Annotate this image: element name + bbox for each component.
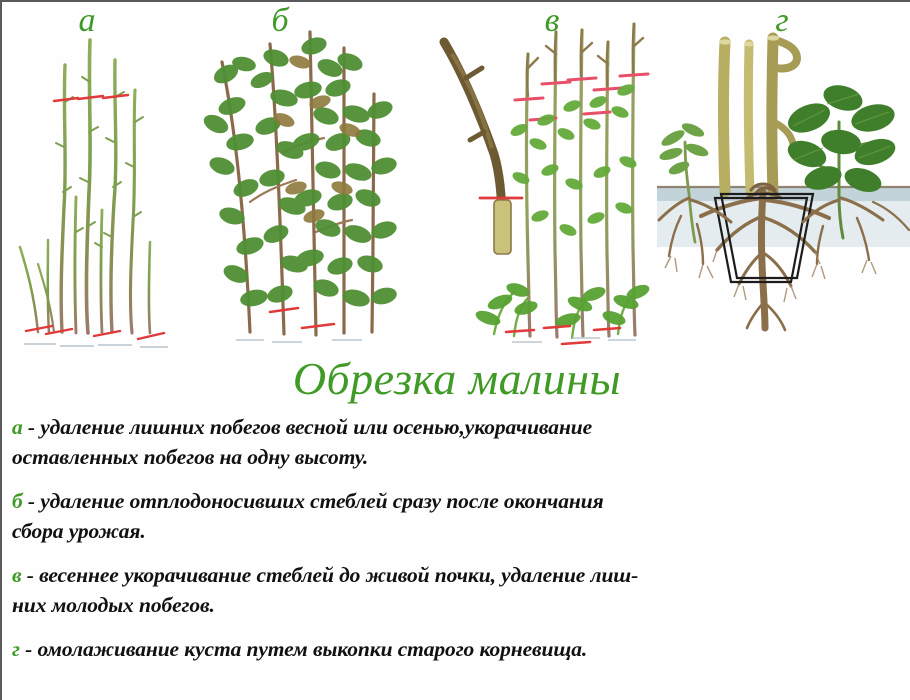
legend-item-a: а - удаление лишних побегов весной или о…: [12, 412, 892, 472]
panel-b-remove-spent-canes: б: [192, 2, 402, 352]
legend-key-a: а: [12, 415, 23, 439]
spring-heading-canes-illustration: [422, 2, 652, 352]
illustration-strip: а: [2, 2, 910, 352]
page-title: Обрезка малины: [2, 354, 910, 404]
legend-text-g: омолаживание куста путем выкопки старого…: [37, 637, 587, 661]
legend-text-a: удаление лишних побегов весной или осень…: [12, 415, 592, 469]
old-stumps: [719, 35, 797, 192]
legend-item-g: г - омолаживание куста путем выкопки ста…: [12, 634, 892, 664]
legend-text-v: весеннее укорачивание стеблей до живой п…: [12, 563, 638, 617]
cut-mark-red: [270, 308, 334, 328]
rhizome-excavation-illustration: [657, 2, 910, 352]
legend-item-v: в - весеннее укорачивание стеблей до жив…: [12, 560, 892, 620]
cut-mark-red: [26, 326, 164, 339]
foliage: [201, 34, 399, 309]
detail-inset-old-cane: [444, 42, 522, 254]
leafy-raspberry-bush-illustration: [192, 2, 402, 352]
legend-text-b: удаление отплодоносивших стеблей сразу п…: [12, 489, 604, 543]
legend-descriptions: а - удаление лишних побегов весной или о…: [12, 412, 892, 664]
poster-page: а: [0, 0, 910, 700]
legend-separator-g: -: [20, 637, 38, 661]
panel-v-spring-heading-to-live-bud: в: [422, 2, 652, 352]
legend-separator-b: -: [23, 489, 41, 513]
legend-key-v: в: [12, 563, 22, 587]
legend-separator-a: -: [23, 415, 41, 439]
legend-item-b: б - удаление отплодоносивших стеблей сра…: [12, 486, 892, 546]
panel-a-thinning-and-heading: а: [2, 2, 197, 352]
legend-key-g: г: [12, 637, 20, 661]
legend-key-b: б: [12, 489, 23, 513]
panel-g-rejuvenation-by-digging-rhizome: г: [657, 2, 910, 352]
raspberry-canes-thinning-illustration: [2, 2, 197, 352]
legend-separator-v: -: [22, 563, 40, 587]
